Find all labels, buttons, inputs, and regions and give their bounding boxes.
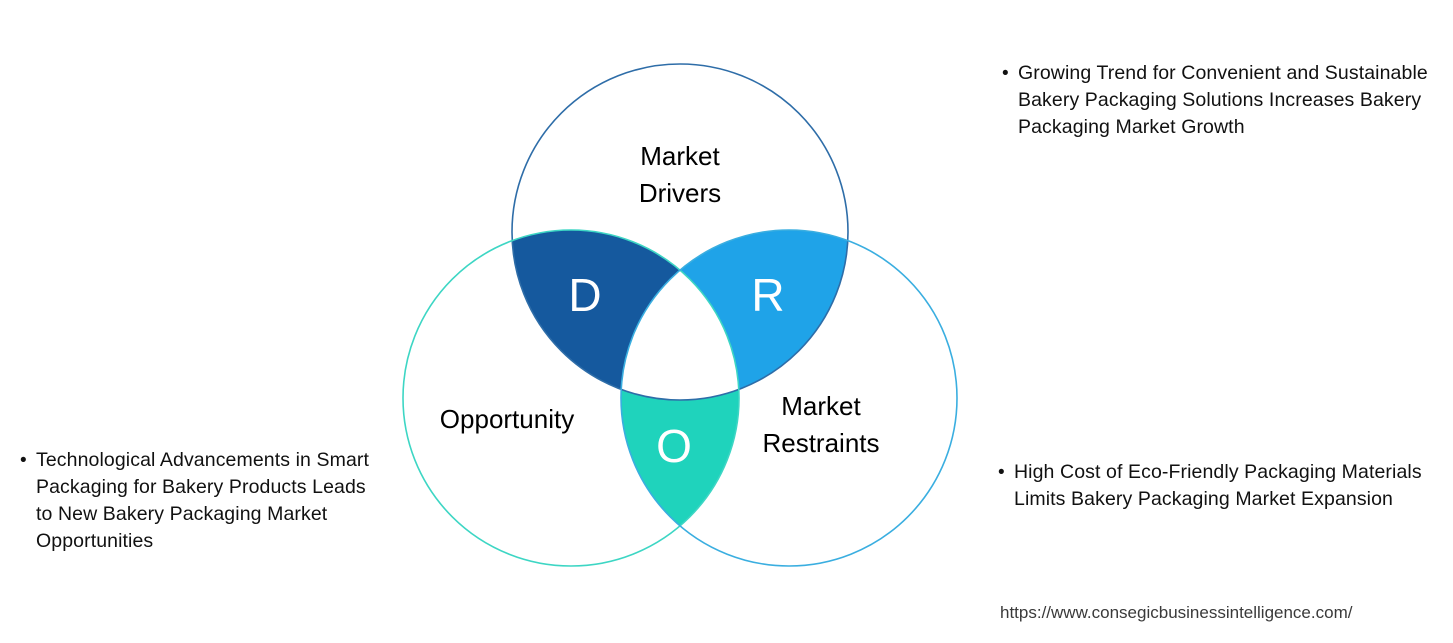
bullet-marker-icon: • [998, 459, 1014, 486]
venn-label-drivers-line1: Market [640, 141, 720, 171]
bullet-opportunity: • Technological Advancements in Smart Pa… [20, 447, 380, 555]
venn-label-opportunity: Opportunity [440, 404, 574, 434]
slide-canvas: Market Drivers Opportunity Market Restra… [0, 0, 1453, 643]
source-url[interactable]: https://www.consegicbusinessintelligence… [1000, 601, 1430, 625]
venn-letter-r: R [751, 269, 784, 321]
venn-label-drivers-line2: Drivers [639, 178, 721, 208]
bullet-market-restraints: • High Cost of Eco-Friendly Packaging Ma… [998, 459, 1438, 513]
bullet-text-market-restraints: High Cost of Eco-Friendly Packaging Mate… [1014, 459, 1438, 513]
bullet-marker-icon: • [20, 447, 36, 474]
bullet-marker-icon: • [1002, 60, 1018, 87]
venn-letter-d: D [568, 269, 601, 321]
venn-letter-o: O [656, 420, 692, 472]
venn-label-restraints-line2: Restraints [762, 428, 879, 458]
bullet-text-opportunity: Technological Advancements in Smart Pack… [36, 447, 380, 555]
venn-diagram: Market Drivers Opportunity Market Restra… [380, 45, 980, 585]
bullet-text-market-drivers: Growing Trend for Convenient and Sustain… [1018, 60, 1432, 141]
venn-label-restraints-line1: Market [781, 391, 861, 421]
bullet-market-drivers: • Growing Trend for Convenient and Susta… [1002, 60, 1432, 141]
